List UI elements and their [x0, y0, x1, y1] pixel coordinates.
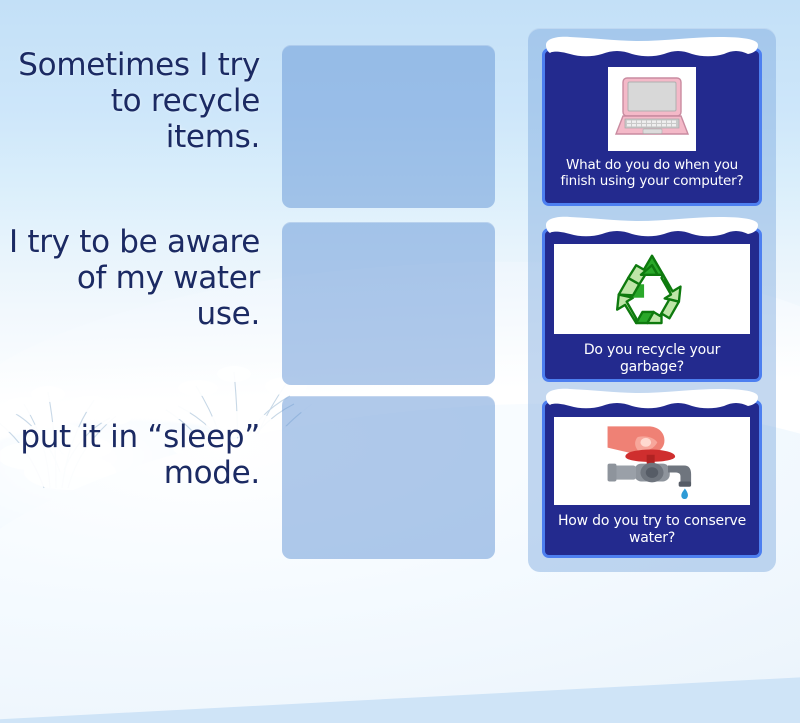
card-caption-recycle: Do you recycle your garbage? — [545, 334, 759, 376]
card-slot-computer: What do you do when you finish using you… — [542, 34, 762, 210]
dropzone-3[interactable] — [282, 396, 495, 559]
card-slot-recycle: Do you recycle your garbage? — [542, 214, 762, 386]
card-slot-water: How do you try to conserve water? — [542, 386, 762, 562]
card-image-water — [554, 417, 750, 505]
question-card-computer[interactable]: What do you do when you finish using you… — [542, 48, 762, 206]
dropzone-2[interactable] — [282, 222, 495, 385]
question-card-water[interactable]: How do you try to conserve water? — [542, 400, 762, 558]
card-caption-computer: What do you do when you finish using you… — [545, 151, 759, 189]
dropzone-column — [282, 0, 512, 600]
answer-text-water[interactable]: I try to be aware of my water use. — [8, 225, 260, 333]
answer-column: Sometimes I try to recycle items. I try … — [0, 0, 272, 600]
card-caption-water: How do you try to conserve water? — [545, 505, 759, 547]
answer-text-sleep[interactable]: put it in “sleep” mode. — [8, 420, 260, 492]
dropzone-1[interactable] — [282, 45, 495, 208]
card-image-computer — [608, 67, 696, 151]
answer-text-recycle[interactable]: Sometimes I try to recycle items. — [8, 48, 260, 156]
laptop-icon — [611, 72, 693, 146]
question-card-panel: What do you do when you finish using you… — [528, 28, 776, 572]
card-image-recycle — [554, 244, 750, 334]
faucet-hand-icon — [598, 421, 706, 501]
recycle-icon — [612, 251, 692, 327]
question-card-recycle[interactable]: Do you recycle your garbage? — [542, 228, 762, 382]
